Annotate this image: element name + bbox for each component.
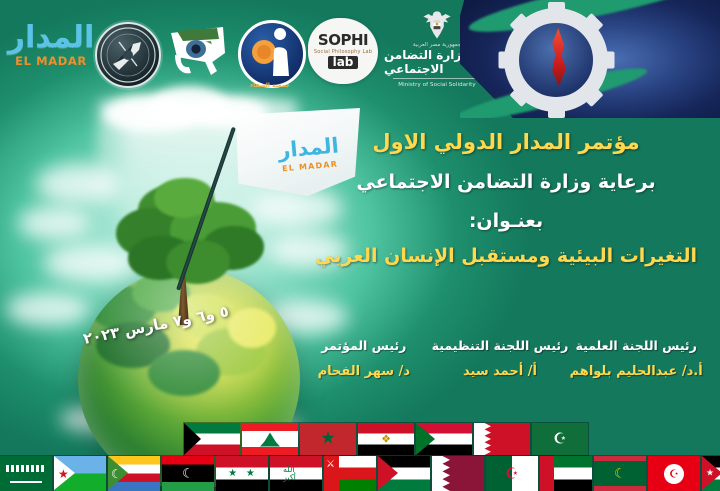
flag-jordan: ★	[702, 456, 720, 491]
flag-comoros: ☾	[108, 456, 160, 491]
flag-saudi-arabia	[0, 456, 52, 491]
flag-kuwait	[184, 423, 240, 455]
logo-sophi-lab[interactable]: SOPHI Social Philosophy Lab lab	[308, 18, 378, 84]
logo-space-circle[interactable]	[95, 22, 161, 88]
eagle-of-saladin-icon	[420, 8, 454, 42]
flag-united-arab-emirates	[540, 456, 592, 491]
committee-member: رئيس اللجنة التنظيمية أ/ أحمد سيد	[432, 338, 569, 379]
cloud	[18, 206, 92, 240]
flag-row-bottom: ★ ☾ ☾ ★ ★ الله أكبر ⚔	[0, 456, 720, 491]
flag-syria: ★ ★	[216, 456, 268, 491]
committee-role: رئيس اللجنة التنظيمية	[432, 338, 569, 353]
flag-qatar	[432, 456, 484, 491]
flag-arab-league: ☪	[532, 423, 588, 455]
committee-name: أ.د/ عبدالحليم بلواهم	[568, 364, 704, 379]
committee-name: د/ سهر الفحام	[296, 364, 432, 379]
flag-algeria: ☪	[486, 456, 538, 491]
flag-djibouti: ★	[54, 456, 106, 491]
logo-el-madar[interactable]: المدار EL MADAR	[8, 8, 94, 84]
sophi-lab-line2: lab	[328, 56, 359, 70]
flag-oman: ⚔	[324, 456, 376, 491]
gear-emblem-banner	[460, 0, 720, 118]
sponsorship-line: برعاية وزارة التضامن الاجتماعي	[306, 170, 706, 196]
tree-canopy	[110, 178, 275, 296]
subtitle-label: بعنـوان:	[306, 210, 706, 232]
logo-eye-of-horus[interactable]	[166, 22, 230, 82]
flag-tunisia: ☪	[648, 456, 700, 491]
committee-member: رئيس المؤتمر د/ سهر الفحام	[296, 338, 432, 379]
flag-sudan	[416, 423, 472, 455]
eye-of-horus-icon	[167, 23, 229, 81]
conference-poster: المدار EL MADAR ٥ و٦ و٧ مارس ٢٠٢٣ المدار…	[0, 0, 720, 491]
mother-child-icon	[244, 26, 300, 82]
conference-theme: التغيرات البيئية ومستقبل الإنسان العربي	[306, 244, 706, 269]
committee-member: رئيس اللجنة العلمية أ.د/ عبدالحليم بلواه…	[568, 338, 704, 379]
rocket-icon	[99, 26, 157, 84]
committee-role: رئيس المؤتمر	[296, 338, 432, 353]
flag-bahrain	[474, 423, 530, 455]
flag-morocco: ★	[300, 423, 356, 455]
flag-egypt: ❖	[358, 423, 414, 455]
committee-role: رئيس اللجنة العلمية	[568, 338, 704, 353]
al-safa-caption: جمعية الصفاء	[232, 82, 308, 89]
cloud	[6, 292, 90, 326]
committee-block: رئيس اللجنة العلمية أ.د/ عبدالحليم بلواه…	[290, 338, 710, 379]
conference-title: مؤتمر المدار الدولي الاول	[306, 128, 706, 156]
sophi-lab-line1: SOPHI	[318, 33, 368, 48]
el-madar-wordmark: EL MADAR	[15, 54, 87, 68]
gear-icon	[504, 8, 608, 112]
flag-row-top: ★ ❖ ☪	[184, 423, 588, 455]
committee-name: أ/ أحمد سيد	[432, 364, 569, 379]
flag-iraq: الله أكبر	[270, 456, 322, 491]
flag-mauritania: ☾	[594, 456, 646, 491]
flag-palestine	[378, 456, 430, 491]
el-madar-arabic-mark: المدار	[8, 24, 95, 53]
sophi-lab-tagline: Social Philosophy Lab	[314, 49, 372, 55]
flag-libya: ☾	[162, 456, 214, 491]
headings-block: مؤتمر المدار الدولي الاول برعاية وزارة ا…	[306, 128, 706, 269]
logo-al-safa-association[interactable]	[238, 20, 306, 88]
flag-lebanon	[242, 423, 298, 455]
